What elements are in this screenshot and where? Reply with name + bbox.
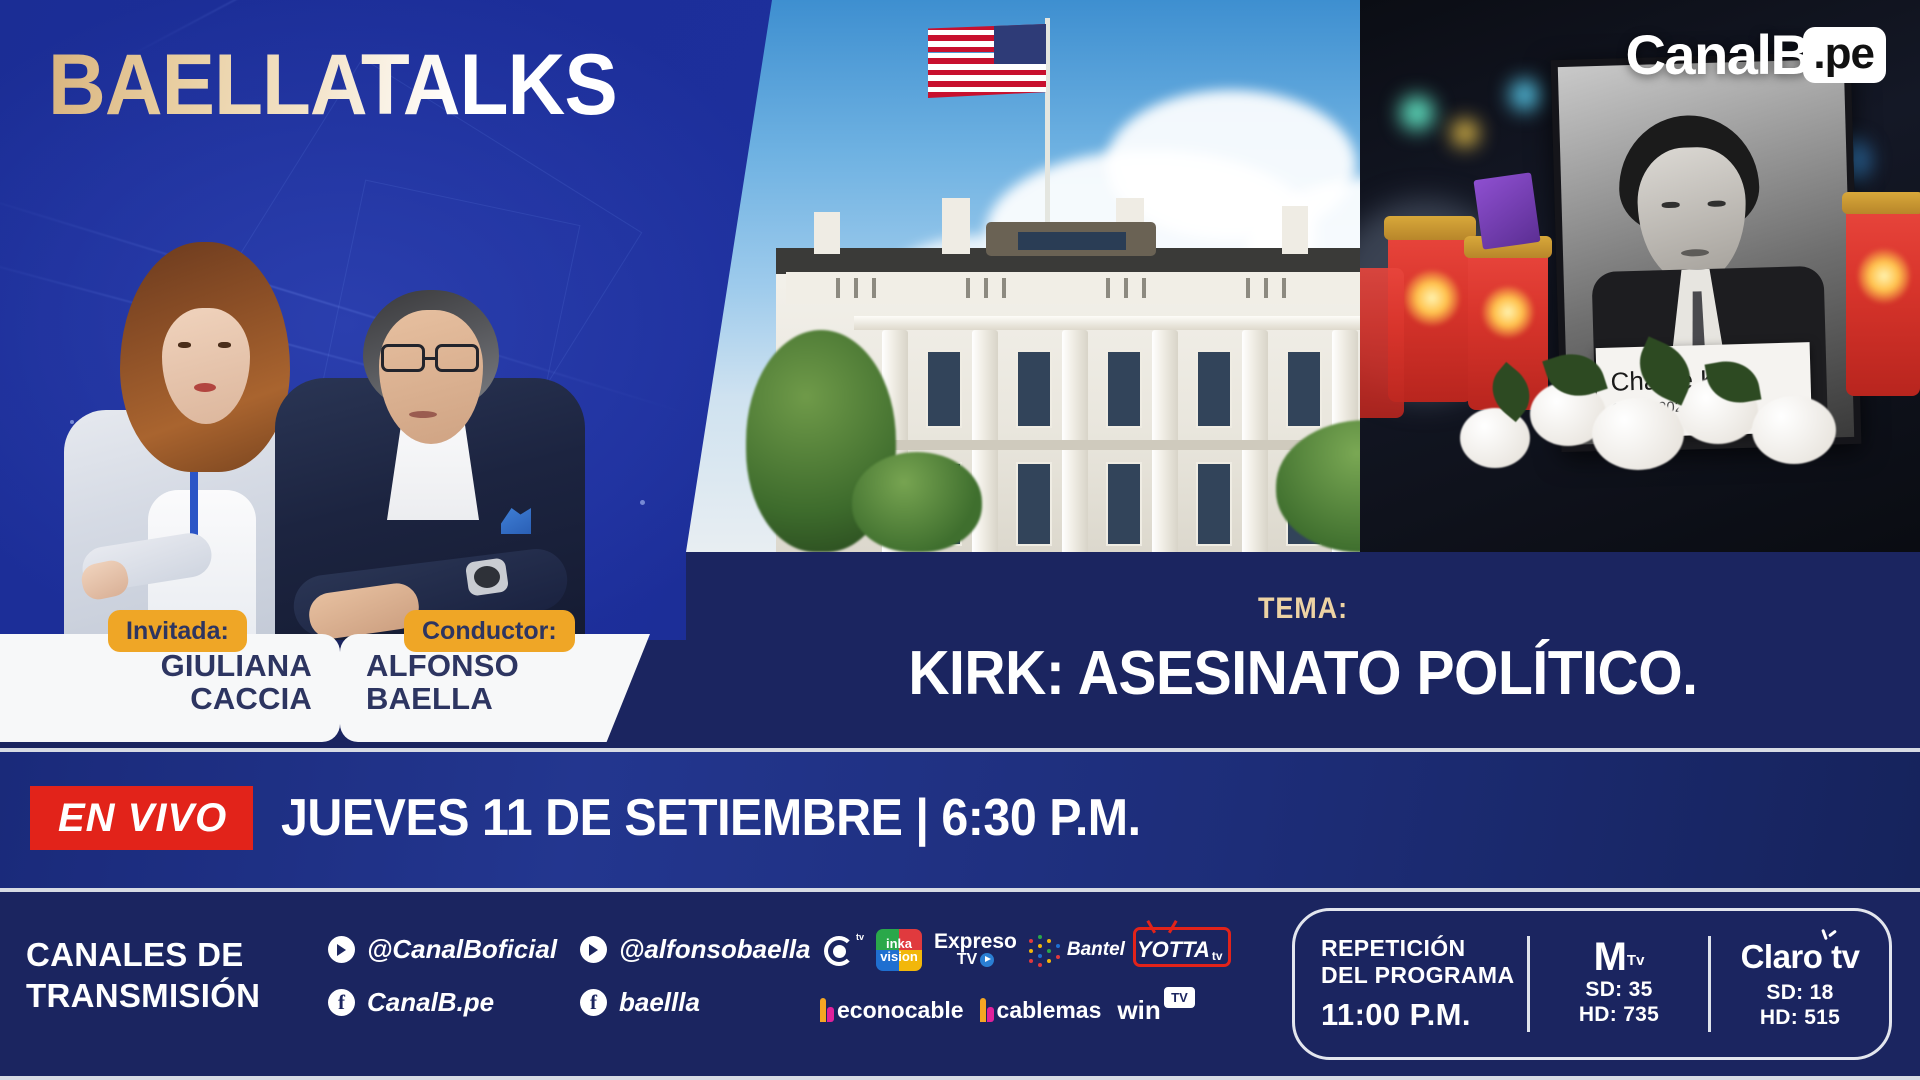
- cablemas-label: cablemas: [997, 997, 1102, 1024]
- role-badge-host: Conductor:: [404, 610, 575, 652]
- movistar-sd: SD: 35: [1585, 978, 1652, 1002]
- social-handles-baella: @alfonsobaella baellla: [580, 934, 811, 1018]
- claro-spark-icon: [1817, 929, 1833, 945]
- partner-row-2: econocable cablemas win TV: [820, 984, 1270, 1036]
- win-tv-logo-icon: win TV: [1117, 995, 1160, 1026]
- bantel-logo-icon: Bantel: [1029, 935, 1125, 965]
- footer: CANALES DE TRANSMISIÓN @CanalBoficial Ca…: [0, 888, 1920, 1080]
- n-mark-icon: [980, 998, 994, 1022]
- youtube-icon: [328, 936, 355, 963]
- facebook-icon: [580, 989, 607, 1016]
- inka-label-2: vision: [880, 950, 918, 963]
- econocable-logo-icon: econocable: [820, 997, 964, 1024]
- social-handles-canalb: @CanalBoficial CanalB.pe: [328, 934, 557, 1018]
- repetition-block: REPETICIÓN DEL PROGRAMA 11:00 P.M.: [1295, 935, 1527, 1033]
- movistar-hd: HD: 735: [1579, 1003, 1659, 1027]
- win-tv-badge: TV: [1164, 987, 1195, 1008]
- bantel-dots: [1029, 935, 1063, 965]
- claro-hd: HD: 515: [1760, 1006, 1840, 1030]
- operator-movistar: M Tv SD: 35 HD: 735: [1530, 941, 1708, 1027]
- topic-block: TEMA: KIRK: ASESINATO POLÍTICO.: [686, 552, 1920, 748]
- topic-label: TEMA:: [1258, 592, 1348, 626]
- claro-logo-icon: Claro tv: [1741, 938, 1860, 976]
- live-badge: EN VIVO: [30, 786, 253, 850]
- brand-name: CanalB: [1625, 22, 1809, 87]
- repetition-time: 11:00 P.M.: [1321, 997, 1527, 1033]
- expreso-tv-label: TV: [957, 952, 977, 967]
- divider: [0, 748, 1920, 752]
- candle: [1360, 268, 1404, 418]
- palm-tv-logo-icon: tv: [820, 930, 864, 970]
- handle-text: @CanalBoficial: [367, 934, 557, 965]
- expreso-tv-logo-icon: Expreso TV: [934, 932, 1017, 967]
- partner-logos: tv inka vision Expreso TV: [820, 924, 1270, 1036]
- bantel-label: Bantel: [1067, 939, 1125, 961]
- handle-text: @alfonsobaella: [619, 934, 811, 965]
- brand-suffix: .pe: [1803, 27, 1886, 83]
- topic-title: KIRK: ASESINATO POLÍTICO.: [908, 638, 1697, 709]
- movistar-tv-label: Tv: [1627, 952, 1645, 969]
- yotta-tv-logo-icon: YOTTA tv: [1137, 937, 1223, 963]
- divider: [0, 888, 1920, 892]
- handle-facebook-canalb[interactable]: CanalB.pe: [328, 987, 557, 1018]
- operator-claro: Claro tv SD: 18 HD: 515: [1711, 938, 1889, 1030]
- yotta-label: YOTTA: [1137, 937, 1210, 963]
- handle-text: CanalB.pe: [367, 987, 494, 1018]
- us-flag-icon: [928, 24, 1046, 98]
- schedule-text: JUEVES 11 DE SETIEMBRE | 6:30 P.M.: [281, 788, 1141, 848]
- n-mark-icon: [820, 998, 834, 1022]
- expreso-label: Expreso: [934, 932, 1017, 952]
- live-bar: EN VIVO JUEVES 11 DE SETIEMBRE | 6:30 P.…: [0, 748, 1920, 888]
- handle-youtube-canalb[interactable]: @CanalBoficial: [328, 934, 557, 965]
- handle-facebook-baella[interactable]: baellla: [580, 987, 811, 1018]
- presenter-name-cards: GIULIANA CACCIA ALFONSO BAELLA Invitada:…: [0, 612, 700, 742]
- cablemas-logo-icon: cablemas: [980, 997, 1102, 1024]
- name-guest: GIULIANA CACCIA: [161, 650, 312, 716]
- econocable-label: econocable: [837, 997, 964, 1024]
- photo-alfonso-baella: [275, 150, 585, 640]
- youtube-icon: [580, 936, 607, 963]
- claro-label: Claro tv: [1741, 938, 1860, 975]
- yotta-tv-label: tv: [1212, 949, 1223, 963]
- movistar-logo-icon: M Tv: [1594, 941, 1645, 973]
- claro-sd: SD: 18: [1766, 981, 1833, 1005]
- channels-label: CANALES DE TRANSMISIÓN: [26, 934, 260, 1017]
- facebook-icon: [328, 989, 355, 1016]
- hosts-photo-group: [0, 120, 680, 640]
- name-host: ALFONSO BAELLA: [366, 650, 519, 716]
- divider: [0, 1076, 1920, 1080]
- win-label: win: [1117, 995, 1160, 1025]
- partner-row-1: tv inka vision Expreso TV: [820, 924, 1270, 976]
- handle-youtube-baella[interactable]: @alfonsobaella: [580, 934, 811, 965]
- handle-text: baellla: [619, 987, 700, 1018]
- inka-vision-logo-icon: inka vision: [876, 929, 922, 971]
- promo-graphic: BAELLATALKS: [0, 0, 1920, 1080]
- repetition-operators-box: REPETICIÓN DEL PROGRAMA 11:00 P.M. M Tv …: [1292, 908, 1892, 1060]
- role-badge-guest: Invitada:: [108, 610, 247, 652]
- canalb-logo[interactable]: CanalB .pe: [1625, 22, 1886, 87]
